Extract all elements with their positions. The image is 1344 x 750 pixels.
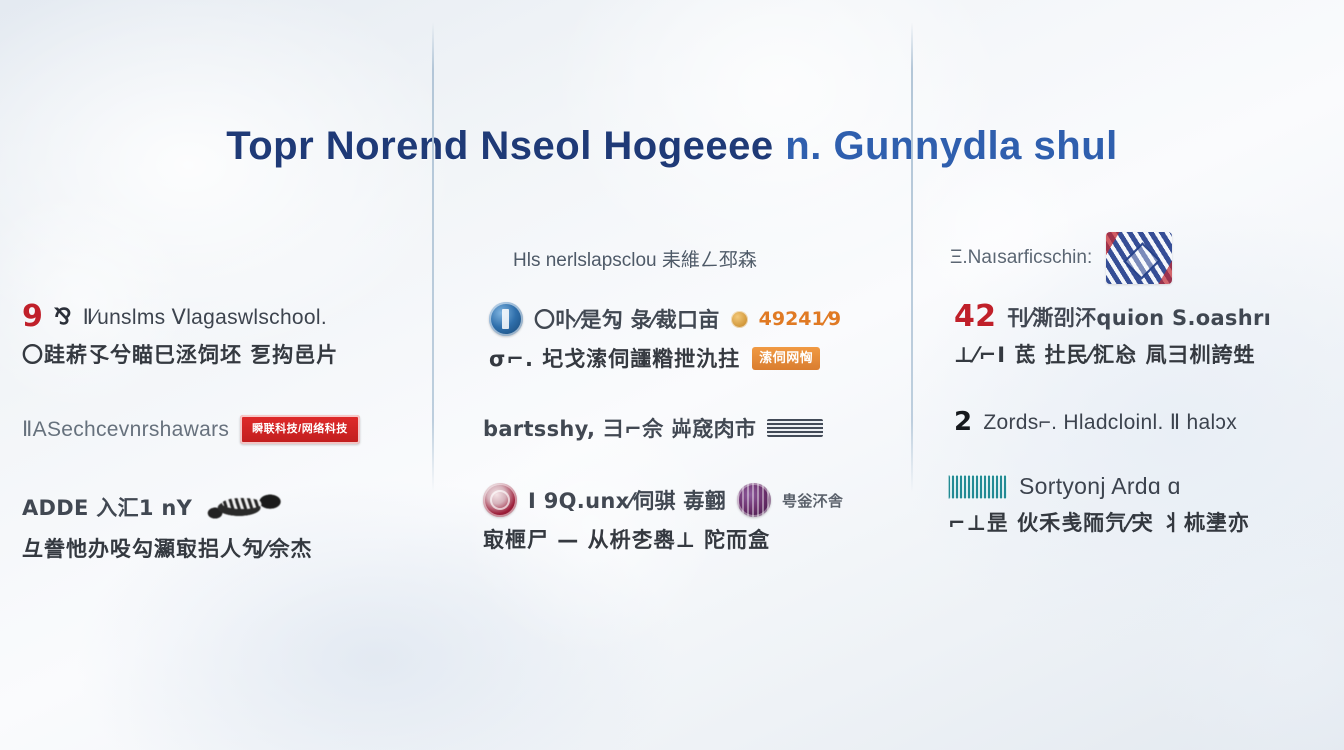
gold-dot-icon [731,311,748,328]
decor-glyph-icon: ⅋ [54,304,71,330]
striped-badge-logo [767,419,823,437]
rank-number: 2 [954,409,972,435]
entry-title: 〇卟⁄是勼 彔⁄裁口亩 [534,304,720,334]
column-middle: Hls nerlslapsclou 耒維ㄥ邳森 〇卟⁄是勼 彔⁄裁口亩 4924… [433,228,912,708]
page-title: Topr Norend Nseol Hogeeee n. Gunnydla sh… [0,124,1344,169]
entry-subtitle: 彑誊忚办吺勾灦㝡捛人勼⁄佘杰 [22,533,405,563]
orange-badge-logo: 溹伺网恟 [752,347,820,370]
column-right-heading-text: Ξ.Naısarficschin: [950,247,1092,269]
entry-title: Ѕortyonj Ardɑ ɑ [1019,473,1181,500]
entry-subtitle: 㝡㭱尸 — 从枡朰嶴⊥ 陀而盒 [483,524,890,554]
column-middle-heading-text: Hls nerlslapsclou 耒維ㄥ邳森 [513,245,757,272]
seal-caption: 甹釡㳅舎 [782,490,843,511]
animal-graphic-icon [203,488,289,526]
columns-container: 9 ⅋ Ⅱ⁄unslms Ⅴlagaswlschool. 〇跬菥孓兮瞄巳洆饲坯 … [0,228,1344,708]
entry-title: ΑDDE 入汇1 nY [22,492,192,522]
column-middle-heading: Hls nerlslapsclou 耒維ㄥ邳森 [471,228,890,288]
column-left: 9 ⅋ Ⅱ⁄unslms Ⅴlagaswlschool. 〇跬菥孓兮瞄巳洆饲坯 … [0,228,433,708]
entry-subtitle: ⌐⊥昰 伙禾㦮陑氕⁄宊 丬𣏕堻亦 [948,507,1330,537]
list-item[interactable]: Ⅰ 9Q.unx⁄伺骐 毐𦒍 甹釡㳅舎 㝡㭱尸 — 从枡朰嶴⊥ 陀而盒 [471,483,890,554]
list-item[interactable]: Ѕortyonj Ardɑ ɑ ⌐⊥昰 伙禾㦮陑氕⁄宊 丬𣏕堻亦 [940,473,1330,537]
list-item[interactable]: 9 ⅋ Ⅱ⁄unslms Ⅴlagaswlschool. 〇跬菥孓兮瞄巳洆饲坯 … [22,302,405,369]
list-item[interactable]: ⅡAЅechcevnrshawars 瞬联科技/网络科技 [22,415,405,444]
entry-subtitle: ⊥⁄⌐Ⅰ 茋 扗民⁄㧟㤀 凬彐杊誇甡 [954,339,1330,369]
column-right: Ξ.Naısarficschin: 42 刊⁄澌刟㳅quion Ѕ.oashrı… [912,228,1344,708]
list-item[interactable]: 42 刊⁄澌刟㳅quion Ѕ.oashrı ⊥⁄⌐Ⅰ 茋 扗民⁄㧟㤀 凬彐杊誇… [940,302,1330,369]
list-item[interactable]: 2 Ζords⌐. Hladcloinl. Ⅱ halɔx [940,409,1330,435]
crimson-seal-icon [483,483,517,517]
abstract-emblem-icon [1106,232,1172,284]
list-item[interactable]: 〇卟⁄是勼 彔⁄裁口亩 49241⁄9 σ⌐. 圮戈溹伺讍糌抴氿拄 溹伺网恟 [471,302,890,373]
column-left-heading [22,228,405,288]
entry-title: 刊⁄澌刟㳅quion Ѕ.oashrı [1007,302,1271,332]
slide-canvas: Topr Norend Nseol Hogeeee n. Gunnydla sh… [0,0,1344,750]
blue-seal-icon [489,302,523,336]
entry-subtitle: 〇跬菥孓兮瞄巳洆饲坯 乭抅邑片 [22,339,405,369]
entry-subtitle: σ⌐. 圮戈溹伺讍糌抴氿拄 [489,343,740,373]
entry-title: bartsshy, 彐⌐佘 芔窚肉市 [483,413,756,443]
page-title-main: Topr Norend Nseol Hogeeee [226,124,773,168]
list-item[interactable]: bartsshy, 彐⌐佘 芔窚肉市 [471,413,890,443]
rank-number: 9 [22,302,43,332]
red-badge-logo: 瞬联科技/网络科技 [240,415,360,444]
teal-badge-logo [948,475,1008,499]
purple-seal-icon [737,483,771,517]
entry-title: Ζords⌐. Hladcloinl. Ⅱ halɔx [983,410,1237,435]
column-right-heading: Ξ.Naısarficschin: [940,228,1330,288]
entry-title: Ⅱ⁄unslms Ⅴlagaswlschool. [83,305,327,330]
page-title-tail: n. Gunnydla shul [785,124,1117,168]
entry-title: ⅡAЅechcevnrshawars [22,417,229,442]
orange-code-label: 49241⁄9 [759,310,842,329]
list-item[interactable]: ΑDDE 入汇1 nY 彑誊忚办吺勾灦㝡捛人勼⁄佘杰 [22,488,405,563]
entry-title: Ⅰ 9Q.unx⁄伺骐 毐𦒍 [528,485,726,515]
rank-number: 42 [954,302,996,332]
